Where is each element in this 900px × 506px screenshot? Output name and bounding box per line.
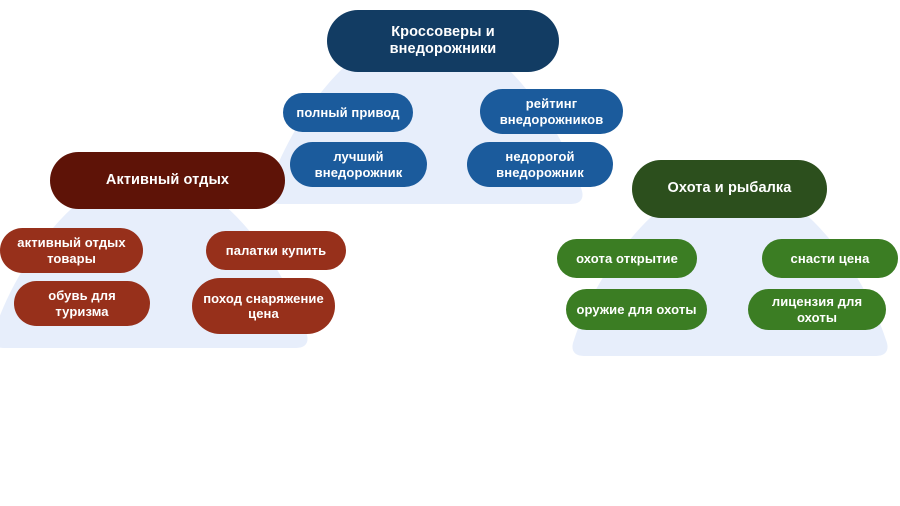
cluster-hunting-root-node[interactable]: Охота и рыбалка	[632, 160, 827, 218]
diagram-canvas: Кроссоверы и внедорожники полный привод …	[0, 0, 900, 506]
cluster-cars-child-polnyy-privod[interactable]: полный привод	[283, 93, 413, 132]
cluster-hunting-child-oruzhie-dlya-ohoty[interactable]: оружие для охоты	[566, 289, 707, 330]
cluster-hunting-child-snasti-cena[interactable]: снасти цена	[762, 239, 898, 278]
cluster-outdoor-child-obuv-dlya-turizma[interactable]: обувь для туризма	[14, 281, 150, 326]
cluster-outdoor-child-palatki-kupit[interactable]: палатки купить	[206, 231, 346, 270]
cluster-outdoor-child-pohod-snaryazhenie-cena[interactable]: поход снаряжение цена	[192, 278, 335, 334]
cluster-cars-root-node[interactable]: Кроссоверы и внедорожники	[327, 10, 559, 72]
cluster-hunting-child-licenziya-dlya-ohoty[interactable]: лицензия для охоты	[748, 289, 886, 330]
cluster-hunting-child-ohota-otkrytie[interactable]: охота открытие	[557, 239, 697, 278]
cluster-cars-child-nedorogoy-vnedorozhnik[interactable]: недорогой внедорожник	[467, 142, 613, 187]
cluster-cars-child-luchshiy-vnedorozhnik[interactable]: лучший внедорожник	[290, 142, 427, 187]
cluster-cars-child-reyting-vnedorozhnikov[interactable]: рейтинг внедорожников	[480, 89, 623, 134]
cluster-outdoor-child-aktivnyy-otdyh-tovary[interactable]: активный отдых товары	[0, 228, 143, 273]
cluster-outdoor-root-node[interactable]: Активный отдых	[50, 152, 285, 209]
